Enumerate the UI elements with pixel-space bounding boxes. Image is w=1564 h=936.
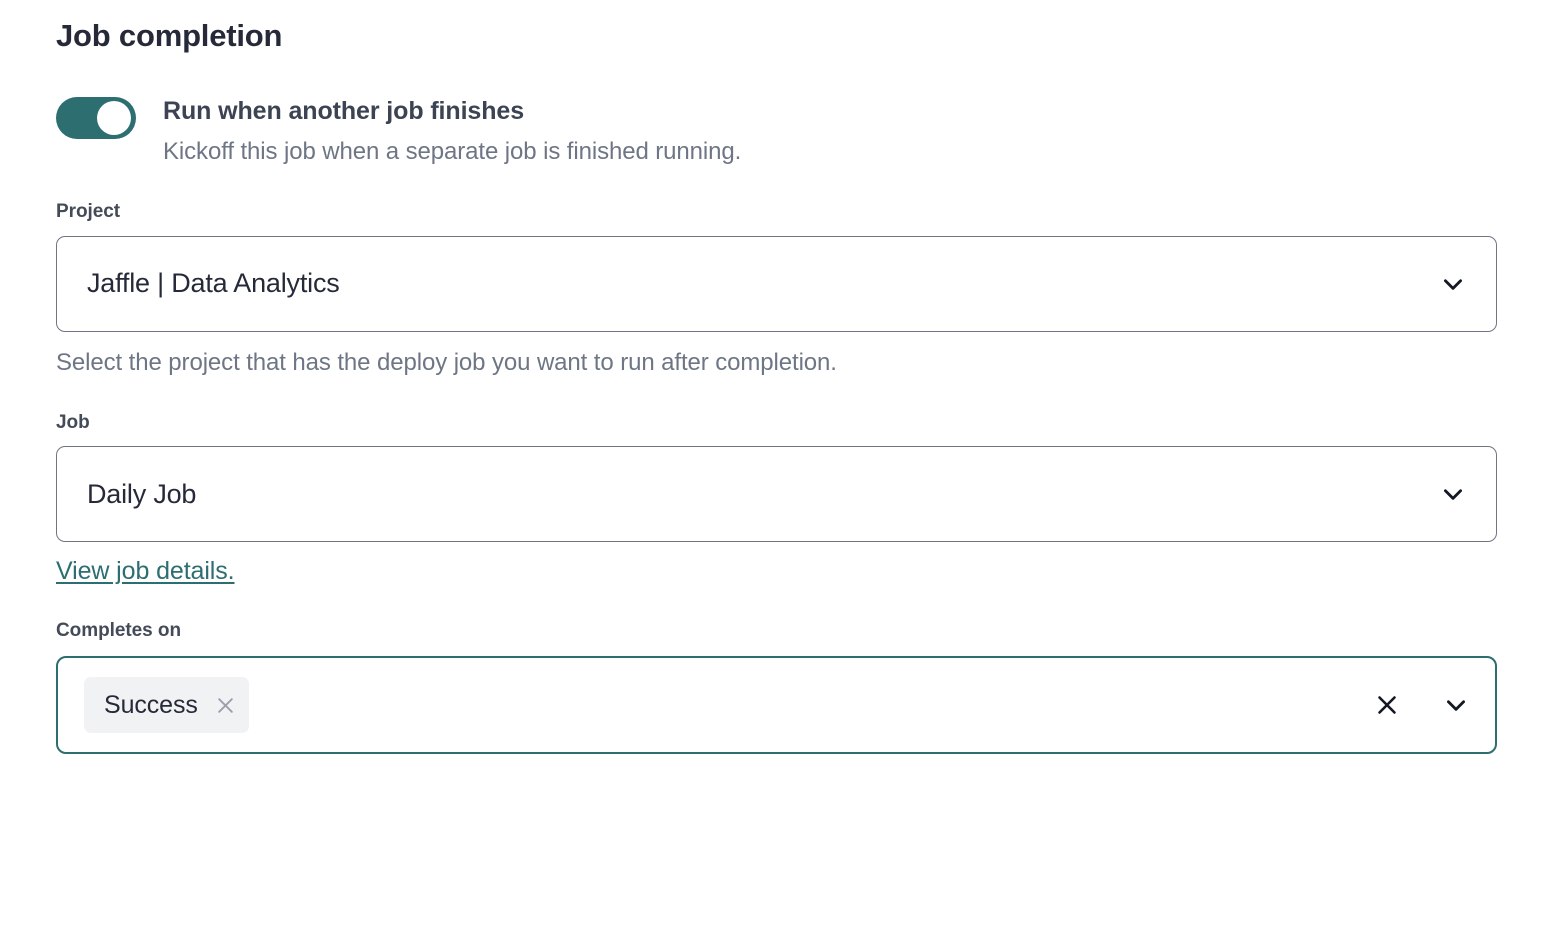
toggle-knob bbox=[97, 101, 131, 135]
toggle-description: Kickoff this job when a separate job is … bbox=[163, 136, 741, 167]
chevron-down-icon[interactable] bbox=[1443, 692, 1469, 718]
chevron-down-icon[interactable] bbox=[1440, 481, 1466, 507]
project-field-group: Project Jaffle | Data Analytics Select t… bbox=[56, 201, 1508, 378]
completes-on-label: Completes on bbox=[56, 620, 1508, 643]
view-job-details-link[interactable]: View job details. bbox=[56, 557, 235, 586]
close-icon[interactable] bbox=[1375, 693, 1399, 717]
run-when-another-job-finishes-row: Run when another job finishes Kickoff th… bbox=[56, 96, 1508, 167]
toggle-text-block: Run when another job finishes Kickoff th… bbox=[163, 96, 741, 167]
multiselect-actions bbox=[1375, 692, 1469, 718]
project-label: Project bbox=[56, 201, 1508, 224]
close-icon[interactable] bbox=[216, 696, 235, 715]
chip-label: Success bbox=[104, 691, 198, 720]
chip-success[interactable]: Success bbox=[84, 677, 249, 733]
completes-on-field-group: Completes on Success bbox=[56, 620, 1508, 754]
run-when-another-job-finishes-toggle[interactable] bbox=[56, 97, 136, 139]
job-field-group: Job Daily Job View job details. bbox=[56, 412, 1508, 587]
job-select[interactable]: Daily Job bbox=[56, 446, 1497, 542]
completes-on-multiselect[interactable]: Success bbox=[56, 656, 1497, 754]
project-select[interactable]: Jaffle | Data Analytics bbox=[56, 236, 1497, 332]
job-label: Job bbox=[56, 412, 1508, 435]
chevron-down-icon[interactable] bbox=[1440, 271, 1466, 297]
page-title: Job completion bbox=[56, 0, 1508, 54]
job-completion-panel: Job completion Run when another job fini… bbox=[0, 0, 1564, 936]
project-selected-value: Jaffle | Data Analytics bbox=[57, 270, 340, 297]
project-helper-text: Select the project that has the deploy j… bbox=[56, 348, 1508, 378]
job-selected-value: Daily Job bbox=[57, 481, 196, 508]
toggle-label: Run when another job finishes bbox=[163, 96, 741, 127]
